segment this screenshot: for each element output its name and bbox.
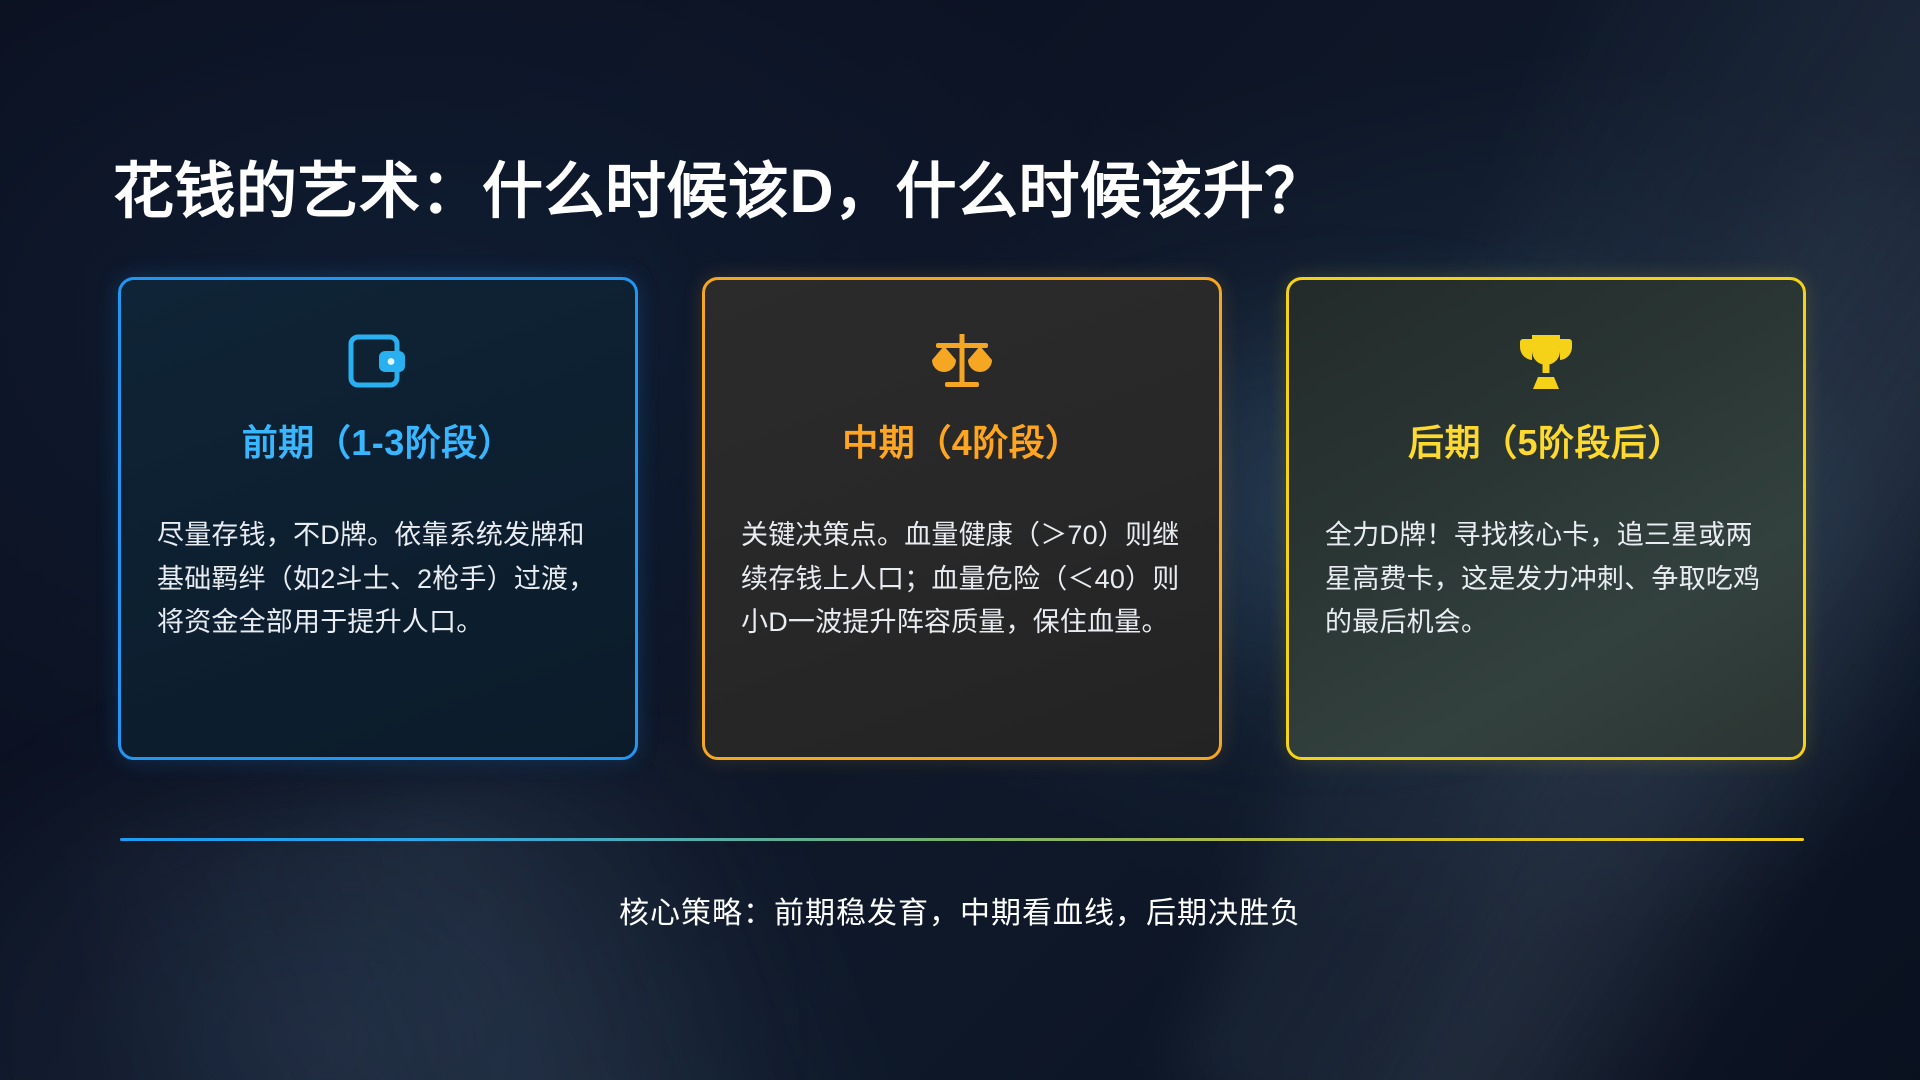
wallet-icon — [157, 324, 599, 400]
phase-card-mid-body: 关键决策点。血量健康（＞70）则继续存钱上人口；血量危险（＜40）则小D一波提升… — [741, 514, 1183, 645]
phase-card-late-title: 后期（5阶段后） — [1325, 414, 1767, 466]
phase-card-early: 前期（1-3阶段） 尽量存钱，不D牌。依靠系统发牌和基础羁绊（如2斗士、2枪手）… — [118, 277, 638, 760]
phase-card-late: 后期（5阶段后） 全力D牌！寻找核心卡，追三星或两星高费卡，这是发力冲刺、争取吃… — [1286, 277, 1806, 760]
footer-summary: 核心策略：前期稳发育，中期看血线，后期决胜负 — [0, 888, 1920, 932]
trophy-icon — [1325, 324, 1767, 400]
page-title: 花钱的艺术：什么时候该D，什么时候该升？ — [113, 141, 1326, 230]
slide-root: 花钱的艺术：什么时候该D，什么时候该升？ 前期（1-3阶段） 尽量存钱，不D牌。… — [0, 0, 1920, 1080]
phase-card-early-body: 尽量存钱，不D牌。依靠系统发牌和基础羁绊（如2斗士、2枪手）过渡，将资金全部用于… — [157, 514, 599, 645]
phase-card-late-body: 全力D牌！寻找核心卡，追三星或两星高费卡，这是发力冲刺、争取吃鸡的最后机会。 — [1325, 514, 1767, 645]
phase-cards-container: 前期（1-3阶段） 尽量存钱，不D牌。依靠系统发牌和基础羁绊（如2斗士、2枪手）… — [118, 277, 1806, 760]
section-divider — [120, 838, 1804, 841]
phase-card-early-title: 前期（1-3阶段） — [157, 414, 599, 466]
scales-icon — [741, 324, 1183, 400]
phase-card-mid: 中期（4阶段） 关键决策点。血量健康（＞70）则继续存钱上人口；血量危险（＜40… — [702, 277, 1222, 760]
phase-card-mid-title: 中期（4阶段） — [741, 414, 1183, 466]
